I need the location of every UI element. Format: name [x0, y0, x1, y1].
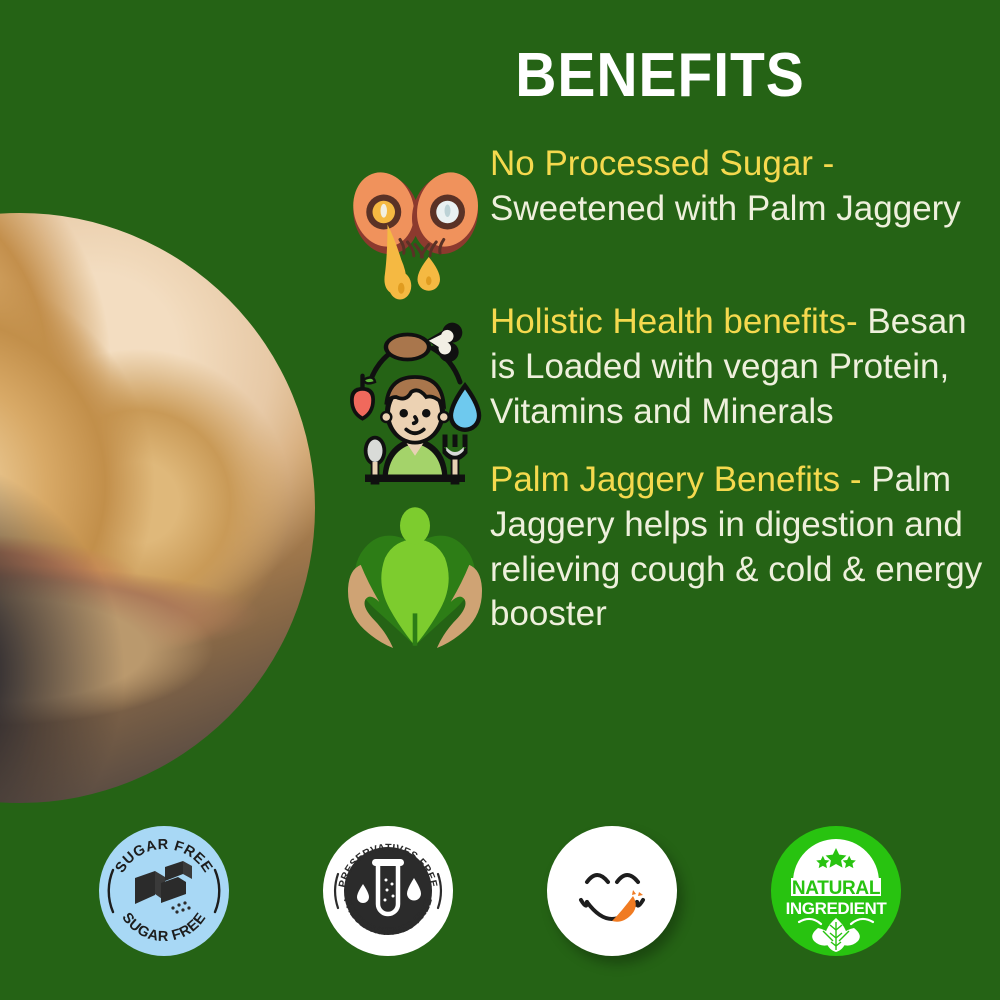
certification-badge-strip: SUGAR FREE SUGAR FREE — [0, 810, 1000, 1000]
tasty-smiley-badge — [547, 826, 677, 956]
benefit-text: Palm Jaggery Benefits - Palm Jaggery hel… — [490, 456, 995, 637]
badge-text-top: SUGAR FREE — [112, 837, 215, 876]
benefit-item-no-processed-sugar: No Processed Sugar - Sweetened with Palm… — [340, 140, 995, 290]
benefit-text: Holistic Health benefits- Besan is Loade… — [490, 298, 995, 434]
benefit-item-palm-jaggery-benefits: Palm Jaggery Benefits - Palm Jaggery hel… — [340, 456, 995, 637]
sugar-cubes-icon — [135, 861, 192, 914]
svg-text:SUGAR FREE: SUGAR FREE — [118, 910, 209, 945]
smiley-face-tongue-icon — [547, 826, 677, 956]
benefit-lead: Holistic Health benefits- — [490, 302, 858, 341]
badge-text-top: NATURAL — [792, 878, 881, 899]
benefit-rest: Sweetened with Palm Jaggery — [490, 189, 961, 228]
healthy-nutrition-person-icon — [340, 298, 490, 448]
badge-text-bottom: SUGAR FREE — [118, 910, 209, 945]
svg-text:SUGAR FREE: SUGAR FREE — [112, 837, 215, 876]
benefits-list: No Processed Sugar - Sweetened with Palm… — [340, 140, 995, 645]
palm-fruit-syrup-icon — [340, 140, 490, 290]
benefit-lead: Palm Jaggery Benefits - — [490, 460, 871, 499]
product-photo — [0, 213, 315, 803]
benefit-item-holistic-health: Holistic Health benefits- Besan is Loade… — [340, 298, 995, 448]
badge-text-bottom: INGREDIENT — [786, 899, 888, 918]
page-title: BENEFITS — [356, 45, 963, 107]
preservatives-free-badge: PRESERVATIVES FREE PRESERVATIVES FREE — [323, 826, 453, 956]
sugar-free-badge: SUGAR FREE SUGAR FREE — [99, 826, 229, 956]
benefit-text: No Processed Sugar - Sweetened with Palm… — [490, 140, 995, 232]
natural-ingredient-badge: NATURAL INGREDIENT — [771, 826, 901, 956]
hands-holding-figure-wellness-icon — [340, 456, 490, 606]
benefit-lead: No Processed Sugar - — [490, 144, 834, 183]
